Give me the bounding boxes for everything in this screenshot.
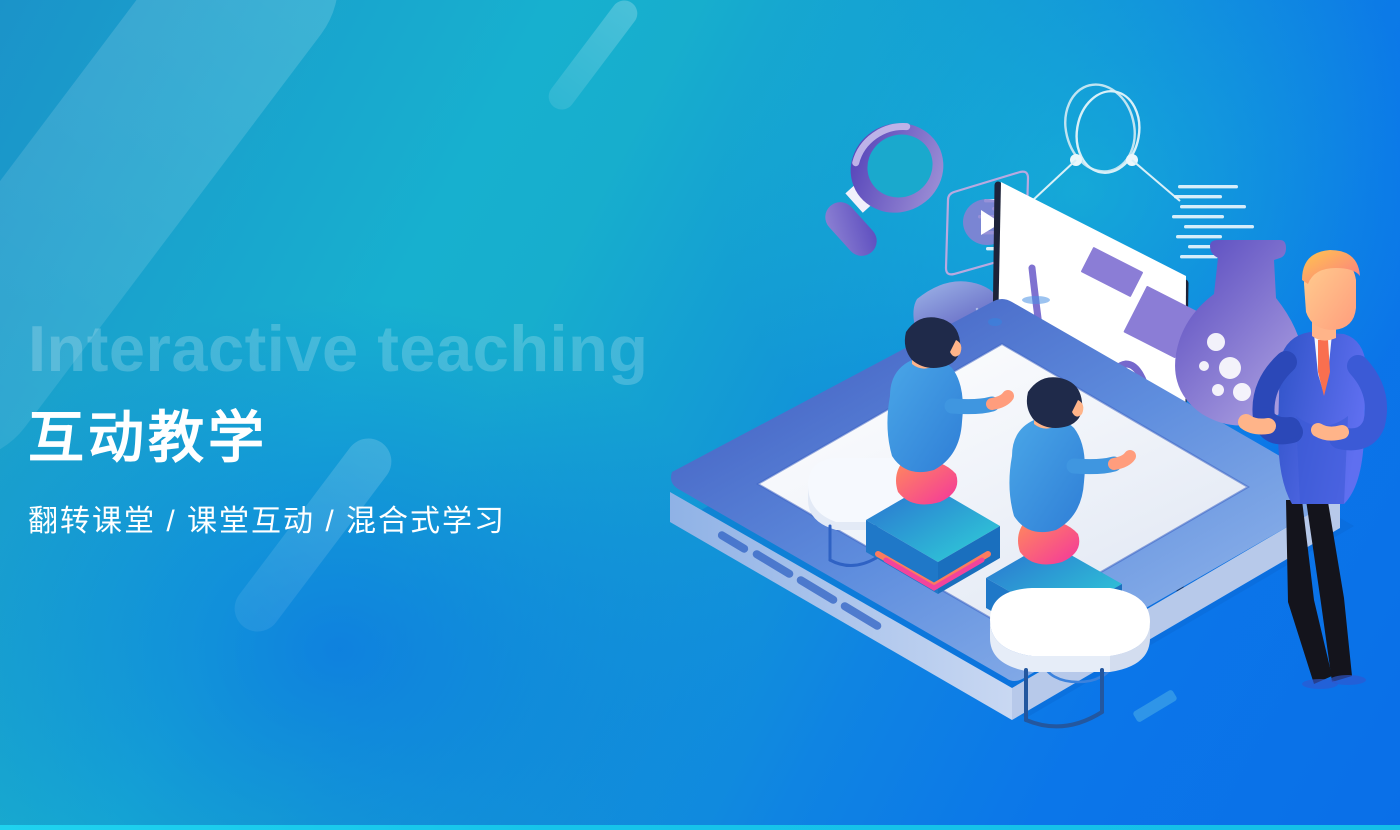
ghost-heading: Interactive teaching — [28, 316, 788, 381]
bottom-accent-strip — [0, 825, 1400, 830]
banner-copy: Interactive teaching 互动教学 翻转课堂 / 课堂互动 / … — [28, 316, 788, 540]
page-subtitle: 翻转课堂 / 课堂互动 / 混合式学习 — [28, 496, 788, 540]
page-title: 互动教学 — [28, 409, 788, 468]
hero-banner: Interactive teaching 互动教学 翻转课堂 / 课堂互动 / … — [0, 0, 1400, 830]
tablet-accent-stripe — [1132, 689, 1178, 723]
magnifier-icon — [819, 107, 959, 262]
decorative-capsule-small — [543, 0, 642, 115]
tablet-camera — [988, 318, 1002, 326]
tablet-speaker — [1022, 296, 1050, 304]
